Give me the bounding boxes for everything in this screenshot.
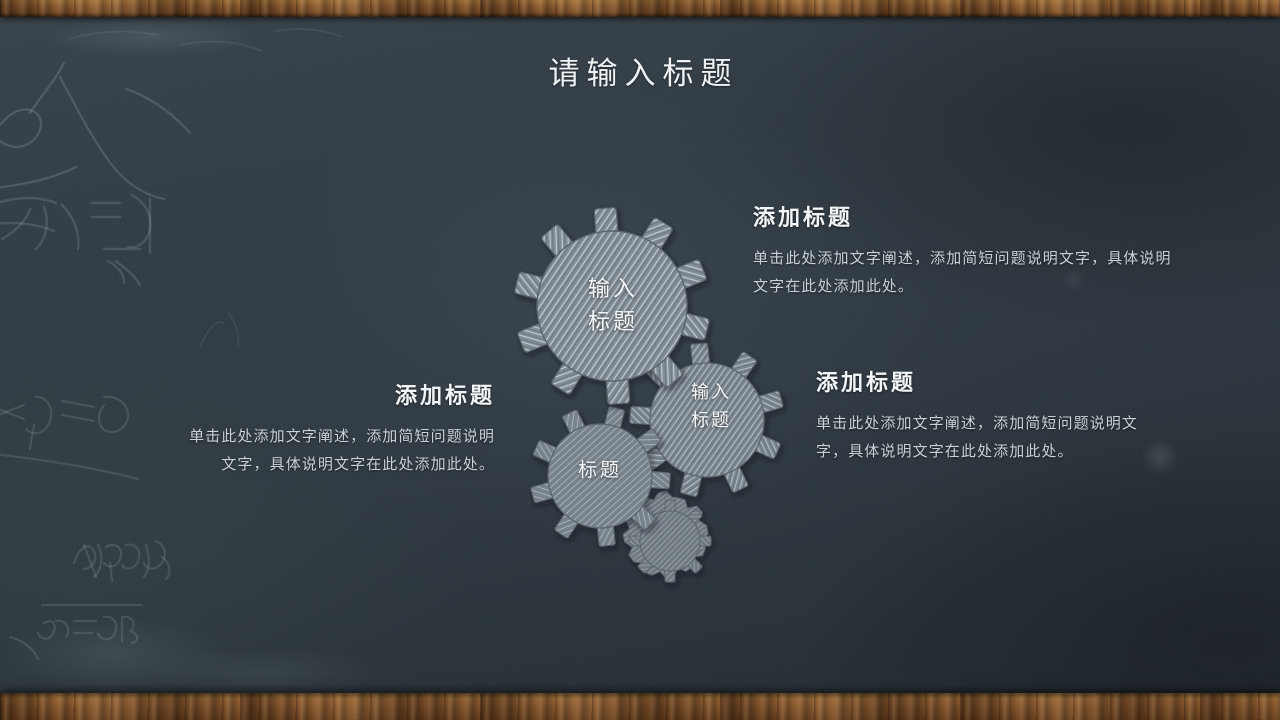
content-block-top-right: 添加标题 单击此处添加文字阐述，添加简短问题说明文字，具体说明文字在此处添加此处… [753,200,1173,301]
wood-frame-top [0,0,1280,17]
wood-frame-bottom [0,693,1280,720]
content-heading-top-right: 添加标题 [753,200,1173,232]
content-heading-bottom-right: 添加标题 [816,365,1156,397]
content-body-top-right: 单击此处添加文字阐述，添加简短问题说明文字，具体说明文字在此处添加此处。 [753,245,1173,301]
content-block-left: 添加标题 单击此处添加文字阐述，添加简短问题说明文字，具体说明文字在此处添加此处… [185,378,495,479]
content-block-bottom-right: 添加标题 单击此处添加文字阐述，添加简短问题说明文字，具体说明文字在此处添加此处… [816,365,1156,466]
content-body-left: 单击此处添加文字阐述，添加简短问题说明文字，具体说明文字在此处添加此处。 [185,423,495,479]
content-body-bottom-right: 单击此处添加文字阐述，添加简短问题说明文字，具体说明文字在此处添加此处。 [816,410,1156,466]
gear-cluster [0,0,1280,720]
content-heading-left: 添加标题 [185,378,495,410]
slide-canvas: 输入 标题 输入 标题 标题 请输入标题 添加标题 单击此处添加文字阐述，添加简… [0,0,1280,720]
page-title: 请输入标题 [0,48,1280,93]
